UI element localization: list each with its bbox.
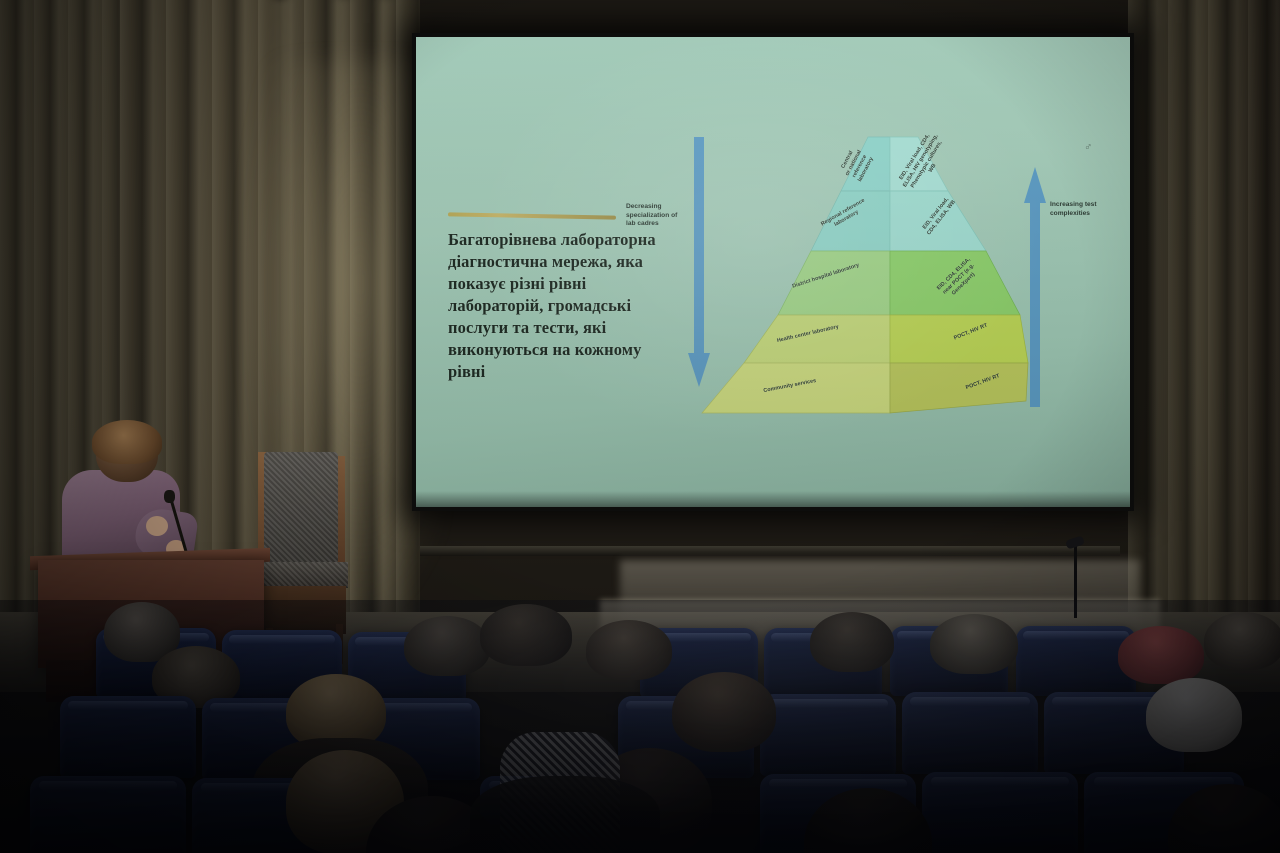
stage-edge — [420, 546, 1120, 556]
conference-hall-photo: Багаторівнева лабораторна діагностична м… — [0, 0, 1280, 853]
slide-accent-line — [448, 212, 616, 219]
right-arrow-label: Increasing test complexities — [1050, 201, 1112, 218]
podium-microphone-head — [164, 490, 175, 503]
screen-bottom-shadow — [416, 491, 1130, 507]
left-arrow-label: Decreasing specialization of lab cadres — [626, 203, 686, 229]
speaker-hand — [146, 516, 168, 536]
tiered-lab-pyramid: Central or national reference laboratory… — [700, 135, 1030, 415]
speaker-hair — [92, 420, 162, 464]
slide-body-text: Багаторівнева лабораторна діагностична м… — [448, 229, 674, 383]
chair-seat — [258, 562, 348, 588]
slide-corner-mark: ♂ — [1084, 141, 1096, 153]
curtain-fold-highlight — [372, 0, 398, 640]
projection-screen: Багаторівнева лабораторна діагностична м… — [416, 37, 1130, 507]
pyramid-tier4-left — [744, 315, 890, 363]
audience-area — [0, 600, 1280, 853]
chair-backrest — [264, 452, 338, 564]
slide-footer-note — [660, 469, 910, 481]
audience-shadow-overlay — [0, 600, 1280, 853]
stage-curtain-right — [1128, 0, 1280, 680]
